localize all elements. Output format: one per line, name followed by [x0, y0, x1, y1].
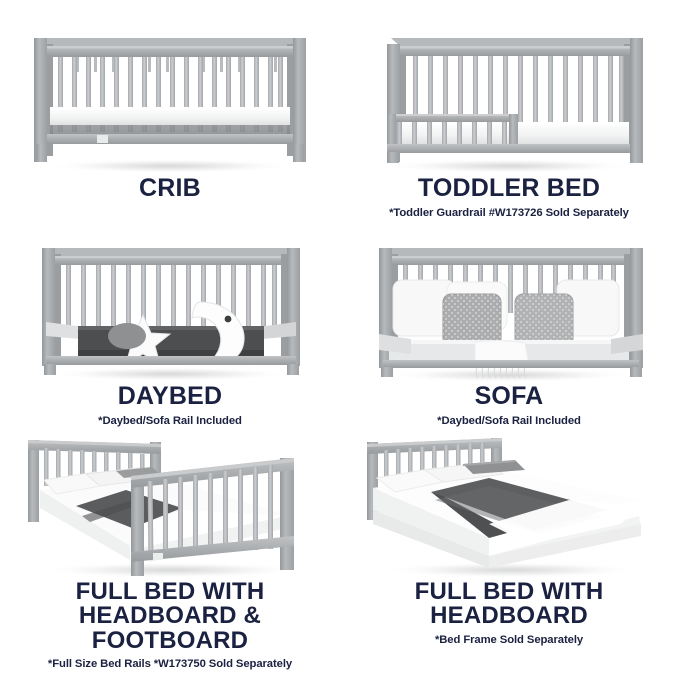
- full-bed-headboard-subtitle: *Bed Frame Sold Separately: [339, 634, 679, 646]
- daybed-title: DAYBED: [0, 384, 340, 410]
- daybed-caption: DAYBED *Daybed/Sofa Rail Included: [0, 384, 340, 427]
- product-cell-full-bed-headboard: FULL BED WITH HEADBOARD *Bed Frame Sold …: [339, 428, 679, 646]
- sofa-subtitle: *Daybed/Sofa Rail Included: [339, 415, 679, 427]
- daybed-illustration: [0, 236, 340, 384]
- full-bed-headboard-title: FULL BED WITH HEADBOARD: [339, 580, 679, 629]
- crib-caption: CRIB: [0, 176, 340, 202]
- product-cell-toddler-bed: TODDLER BED *Toddler Guardrail #W173726 …: [339, 14, 679, 219]
- full-bed-headboard-caption: FULL BED WITH HEADBOARD *Bed Frame Sold …: [339, 580, 679, 646]
- sofa-caption: SOFA *Daybed/Sofa Rail Included: [339, 384, 679, 427]
- sofa-illustration: [339, 236, 679, 384]
- full-bed-headboard-footboard-illustration: [0, 428, 340, 580]
- toddler-bed-illustration: [339, 14, 679, 176]
- bedding: [373, 460, 647, 568]
- sofa-title: SOFA: [339, 384, 679, 410]
- product-cell-crib: CRIB: [0, 14, 340, 207]
- crib-illustration: [0, 14, 340, 176]
- toddler-bed-title: TODDLER BED: [339, 176, 679, 202]
- full-bed-hb-drawing: [339, 428, 679, 580]
- crib-title: CRIB: [0, 176, 340, 202]
- gray-pillow: [108, 323, 146, 349]
- full-bed-headboard-footboard-title: FULL BED WITH HEADBOARD & FOOTBOARD: [0, 580, 340, 653]
- full-bed-hb-fb-drawing: [0, 428, 340, 580]
- crib-drawing: [0, 14, 340, 176]
- product-cell-daybed: DAYBED *Daybed/Sofa Rail Included: [0, 236, 340, 427]
- toddler-bed-drawing: [339, 14, 679, 176]
- accent-pillow-right: [515, 294, 573, 346]
- daybed-subtitle: *Daybed/Sofa Rail Included: [0, 415, 340, 427]
- toddler-bed-caption: TODDLER BED *Toddler Guardrail #W173726 …: [339, 176, 679, 219]
- full-bed-headboard-illustration: [339, 428, 679, 580]
- daybed-drawing: [0, 236, 340, 384]
- conversion-infographic: CRIB: [0, 0, 679, 679]
- full-bed-headboard-footboard-subtitle: *Full Size Bed Rails *W173750 Sold Separ…: [0, 658, 340, 670]
- product-cell-full-bed-headboard-footboard: FULL BED WITH HEADBOARD & FOOTBOARD *Ful…: [0, 428, 340, 670]
- toddler-bed-subtitle: *Toddler Guardrail #W173726 Sold Separat…: [339, 207, 679, 219]
- accent-pillow-left: [443, 294, 501, 346]
- product-cell-sofa: SOFA *Daybed/Sofa Rail Included: [339, 236, 679, 427]
- sofa-drawing: [339, 236, 679, 384]
- full-bed-headboard-footboard-caption: FULL BED WITH HEADBOARD & FOOTBOARD *Ful…: [0, 580, 340, 670]
